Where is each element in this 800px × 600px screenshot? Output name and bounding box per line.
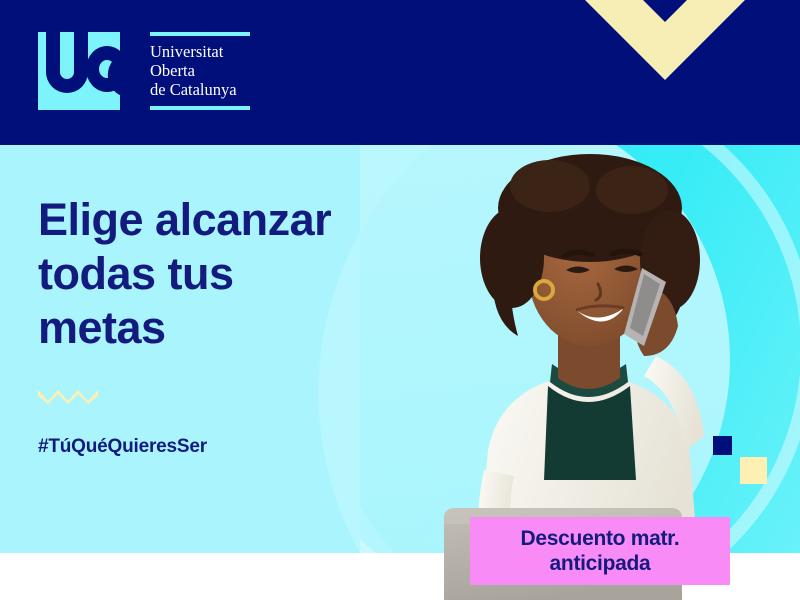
- uoc-promo-banner: Universitat Oberta de Catalunya: [0, 0, 800, 600]
- logo-divider: [136, 32, 138, 110]
- campaign-hashtag: #TúQuéQuieresSer: [38, 436, 368, 458]
- zigzag-icon: [38, 388, 98, 404]
- university-name: Universitat Oberta de Catalunya: [150, 42, 237, 99]
- promo-label: Descuento matr. anticipada: [521, 526, 680, 576]
- header-bar: Universitat Oberta de Catalunya: [0, 0, 800, 145]
- uoc-logo[interactable]: Universitat Oberta de Catalunya: [38, 32, 250, 110]
- logo-rule-top: [150, 32, 250, 36]
- page-title: Elige alcanzar todas tus metas: [38, 193, 368, 355]
- chevron-down-icon: [565, 0, 765, 122]
- uoc-logo-mark: [38, 32, 136, 110]
- hero-copy: Elige alcanzar todas tus metas #TúQuéQui…: [38, 193, 368, 458]
- logo-rule-bottom: [150, 106, 250, 110]
- promo-badge[interactable]: Descuento matr. anticipada: [470, 517, 730, 585]
- uoc-logo-wordmark: Universitat Oberta de Catalunya: [150, 32, 250, 110]
